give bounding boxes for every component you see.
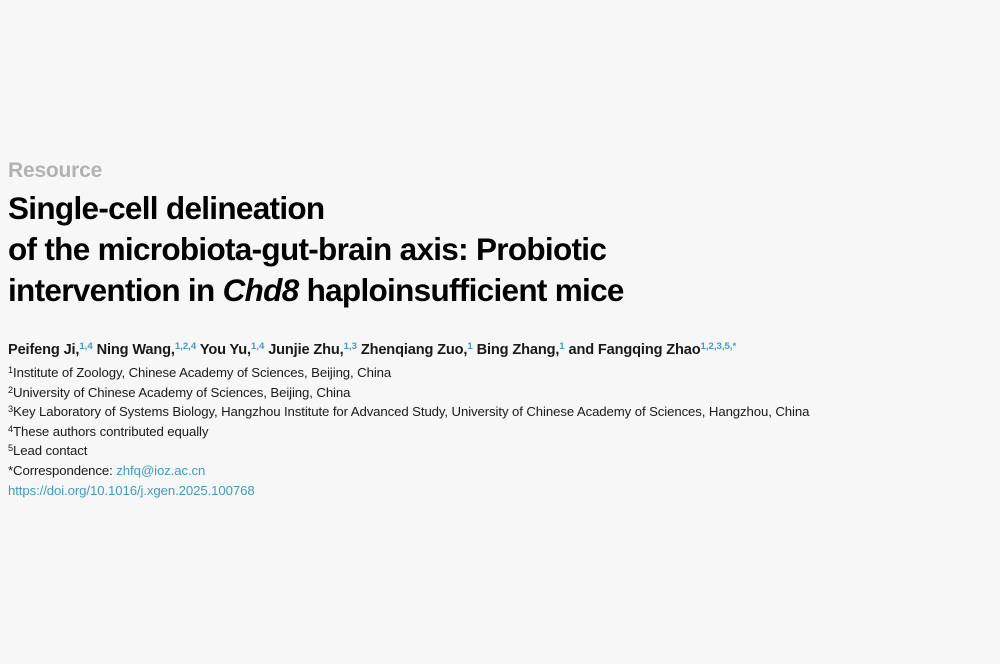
correspondence-email-link[interactable]: zhfq@ioz.ac.cn (116, 463, 205, 478)
affiliation-text: Lead contact (13, 443, 87, 458)
author-entry[interactable]: Zhenqiang Zuo,1 (361, 342, 473, 358)
article-header-page: Resource Single-cell delineation of the … (0, 0, 1000, 664)
author-affiliation-marks: 1 (467, 341, 472, 352)
author-entry[interactable]: Bing Zhang,1 (477, 342, 565, 358)
title-line-3: intervention in Chd8 haploinsufficient m… (8, 270, 992, 311)
author-entry[interactable]: You Yu,1,4 (200, 342, 264, 358)
footnote-equal-contribution: 4These authors contributed equally (8, 422, 992, 442)
title-line-3-tail: haploinsufficient mice (299, 272, 624, 308)
affiliation-list: 1Institute of Zoology, Chinese Academy o… (8, 363, 992, 481)
author-entry[interactable]: Ning Wang,1,2,4 (97, 342, 197, 358)
author-affiliation-marks: 1,4 (251, 341, 264, 352)
affiliation-text: Key Laboratory of Systems Biology, Hangz… (13, 404, 809, 419)
author-entry[interactable]: Peifeng Ji,1,4 (8, 342, 93, 358)
author-name: and Fangqing Zhao (569, 342, 701, 358)
doi-line: https://doi.org/10.1016/j.xgen.2025.1007… (8, 481, 992, 501)
article-type-label: Resource (8, 158, 992, 184)
affiliation-text: These authors contributed equally (13, 424, 208, 439)
author-entry[interactable]: and Fangqing Zhao1,2,3,5,* (569, 342, 737, 358)
affiliation-text: Institute of Zoology, Chinese Academy of… (13, 365, 391, 380)
page-title: Single-cell delineation of the microbiot… (8, 188, 992, 311)
author-affiliation-marks: 1 (559, 341, 564, 352)
affiliation-text: University of Chinese Academy of Science… (13, 385, 350, 400)
correspondence-line: *Correspondence: zhfq@ioz.ac.cn (8, 461, 992, 481)
correspondence-label: Correspondence: (13, 463, 113, 478)
doi-link[interactable]: https://doi.org/10.1016/j.xgen.2025.1007… (8, 483, 255, 498)
title-line-1: Single-cell delineation (8, 188, 992, 229)
title-line-2: of the microbiota-gut-brain axis: Probio… (8, 229, 992, 270)
author-list: Peifeng Ji,1,4 Ning Wang,1,2,4 You Yu,1,… (8, 341, 992, 360)
author-entry[interactable]: Junjie Zhu,1,3 (268, 342, 357, 358)
author-name: Bing Zhang, (477, 342, 560, 358)
footnote-lead-contact: 5Lead contact (8, 441, 992, 461)
author-affiliation-marks: 1,2,4 (175, 341, 196, 352)
affiliation-item: 1Institute of Zoology, Chinese Academy o… (8, 363, 992, 383)
affiliation-item: 2University of Chinese Academy of Scienc… (8, 383, 992, 403)
author-name: Zhenqiang Zuo, (361, 342, 468, 358)
title-line-3-head: intervention in (8, 272, 223, 308)
author-name: You Yu, (200, 342, 251, 358)
article-header: Resource Single-cell delineation of the … (8, 158, 992, 500)
author-affiliation-marks: 1,4 (79, 341, 92, 352)
gene-name-italic: Chd8 (223, 272, 299, 308)
author-name: Peifeng Ji, (8, 342, 79, 358)
author-name: Ning Wang, (97, 342, 175, 358)
author-affiliation-marks: 1,3 (344, 341, 357, 352)
author-affiliation-marks: 1,2,3,5,* (701, 341, 737, 352)
author-name: Junjie Zhu, (268, 342, 343, 358)
affiliation-item: 3Key Laboratory of Systems Biology, Hang… (8, 402, 992, 422)
